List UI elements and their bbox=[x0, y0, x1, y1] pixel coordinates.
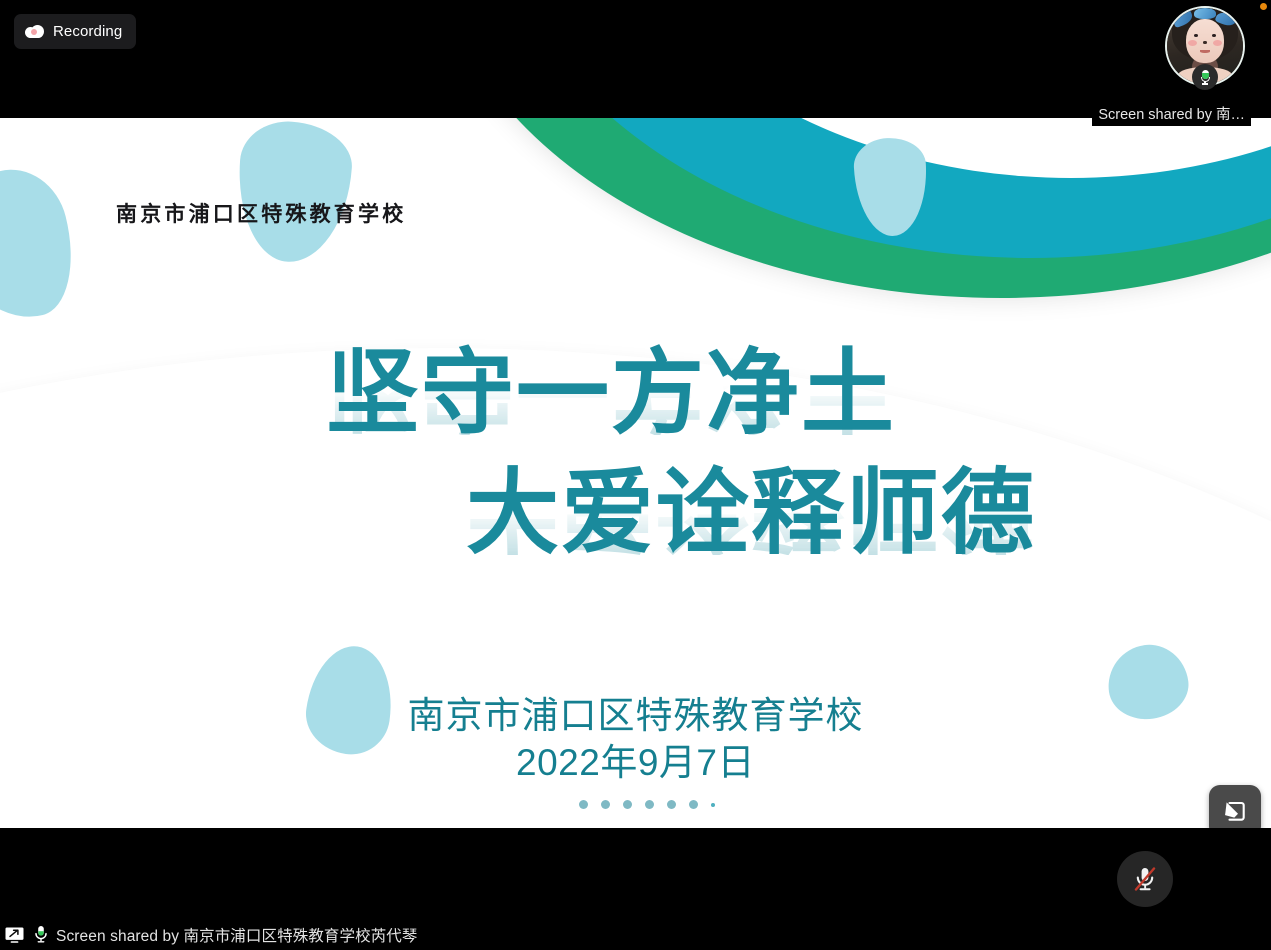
pagination-dot-6[interactable] bbox=[667, 800, 676, 809]
slide-subtitle: 南京市浦口区特殊教育学校 2022年9月7日 bbox=[0, 693, 1271, 787]
pagination-dot-2[interactable] bbox=[579, 800, 588, 809]
screen-share-icon bbox=[5, 927, 24, 943]
microphone-muted-icon bbox=[1128, 862, 1162, 896]
share-caption-top: Screen shared by 南… bbox=[1092, 101, 1251, 126]
pagination-dot-8[interactable] bbox=[711, 803, 715, 807]
slide-title-line-2-reflection: 大爱诠释师德 bbox=[466, 460, 1036, 555]
pagination-dot-4[interactable] bbox=[623, 800, 632, 809]
pagination-dot-5[interactable] bbox=[645, 800, 654, 809]
screen-share-window: Recording bbox=[0, 0, 1271, 950]
microphone-icon[interactable] bbox=[1192, 64, 1218, 90]
recording-indicator[interactable]: Recording bbox=[14, 14, 136, 49]
shared-slide[interactable]: 南京市浦口区特殊教育学校 坚守一方净土 坚守一方净土 大爱诠释师德 大爱诠释师德… bbox=[0, 118, 1271, 828]
pencil-annotate-icon bbox=[1220, 796, 1250, 826]
pagination-dot-3[interactable] bbox=[601, 800, 610, 809]
recording-label: Recording bbox=[53, 23, 122, 40]
decorative-triangle-left bbox=[0, 158, 87, 331]
meeting-top-bar: Recording bbox=[0, 0, 1271, 118]
share-status-bar: Screen shared by 南京市浦口区特殊教育学校芮代琴 bbox=[0, 919, 1271, 950]
pagination-dot-1[interactable] bbox=[557, 800, 566, 809]
decorative-triangle-top bbox=[233, 118, 354, 265]
microphone-icon bbox=[34, 925, 48, 944]
slide-pagination[interactable] bbox=[0, 800, 1271, 809]
slide-title-line-1-reflection: 坚守一方净土 bbox=[326, 340, 896, 435]
slide-subtitle-line-2: 2022年9月7日 bbox=[0, 740, 1271, 787]
slide-school-header: 南京市浦口区特殊教育学校 bbox=[116, 198, 406, 228]
orange-status-dot bbox=[1260, 3, 1267, 10]
self-view-avatar-tile[interactable] bbox=[1165, 6, 1245, 86]
meeting-bottom-area: Screen shared by 南京市浦口区特殊教育学校芮代琴 bbox=[0, 828, 1271, 950]
cloud-recording-icon bbox=[25, 25, 44, 38]
share-status-text: Screen shared by 南京市浦口区特殊教育学校芮代琴 bbox=[56, 924, 418, 946]
pagination-dot-7[interactable] bbox=[689, 800, 698, 809]
annotate-button[interactable] bbox=[1209, 785, 1261, 828]
mute-microphone-button[interactable] bbox=[1117, 851, 1173, 907]
slide-subtitle-line-1: 南京市浦口区特殊教育学校 bbox=[0, 693, 1271, 740]
